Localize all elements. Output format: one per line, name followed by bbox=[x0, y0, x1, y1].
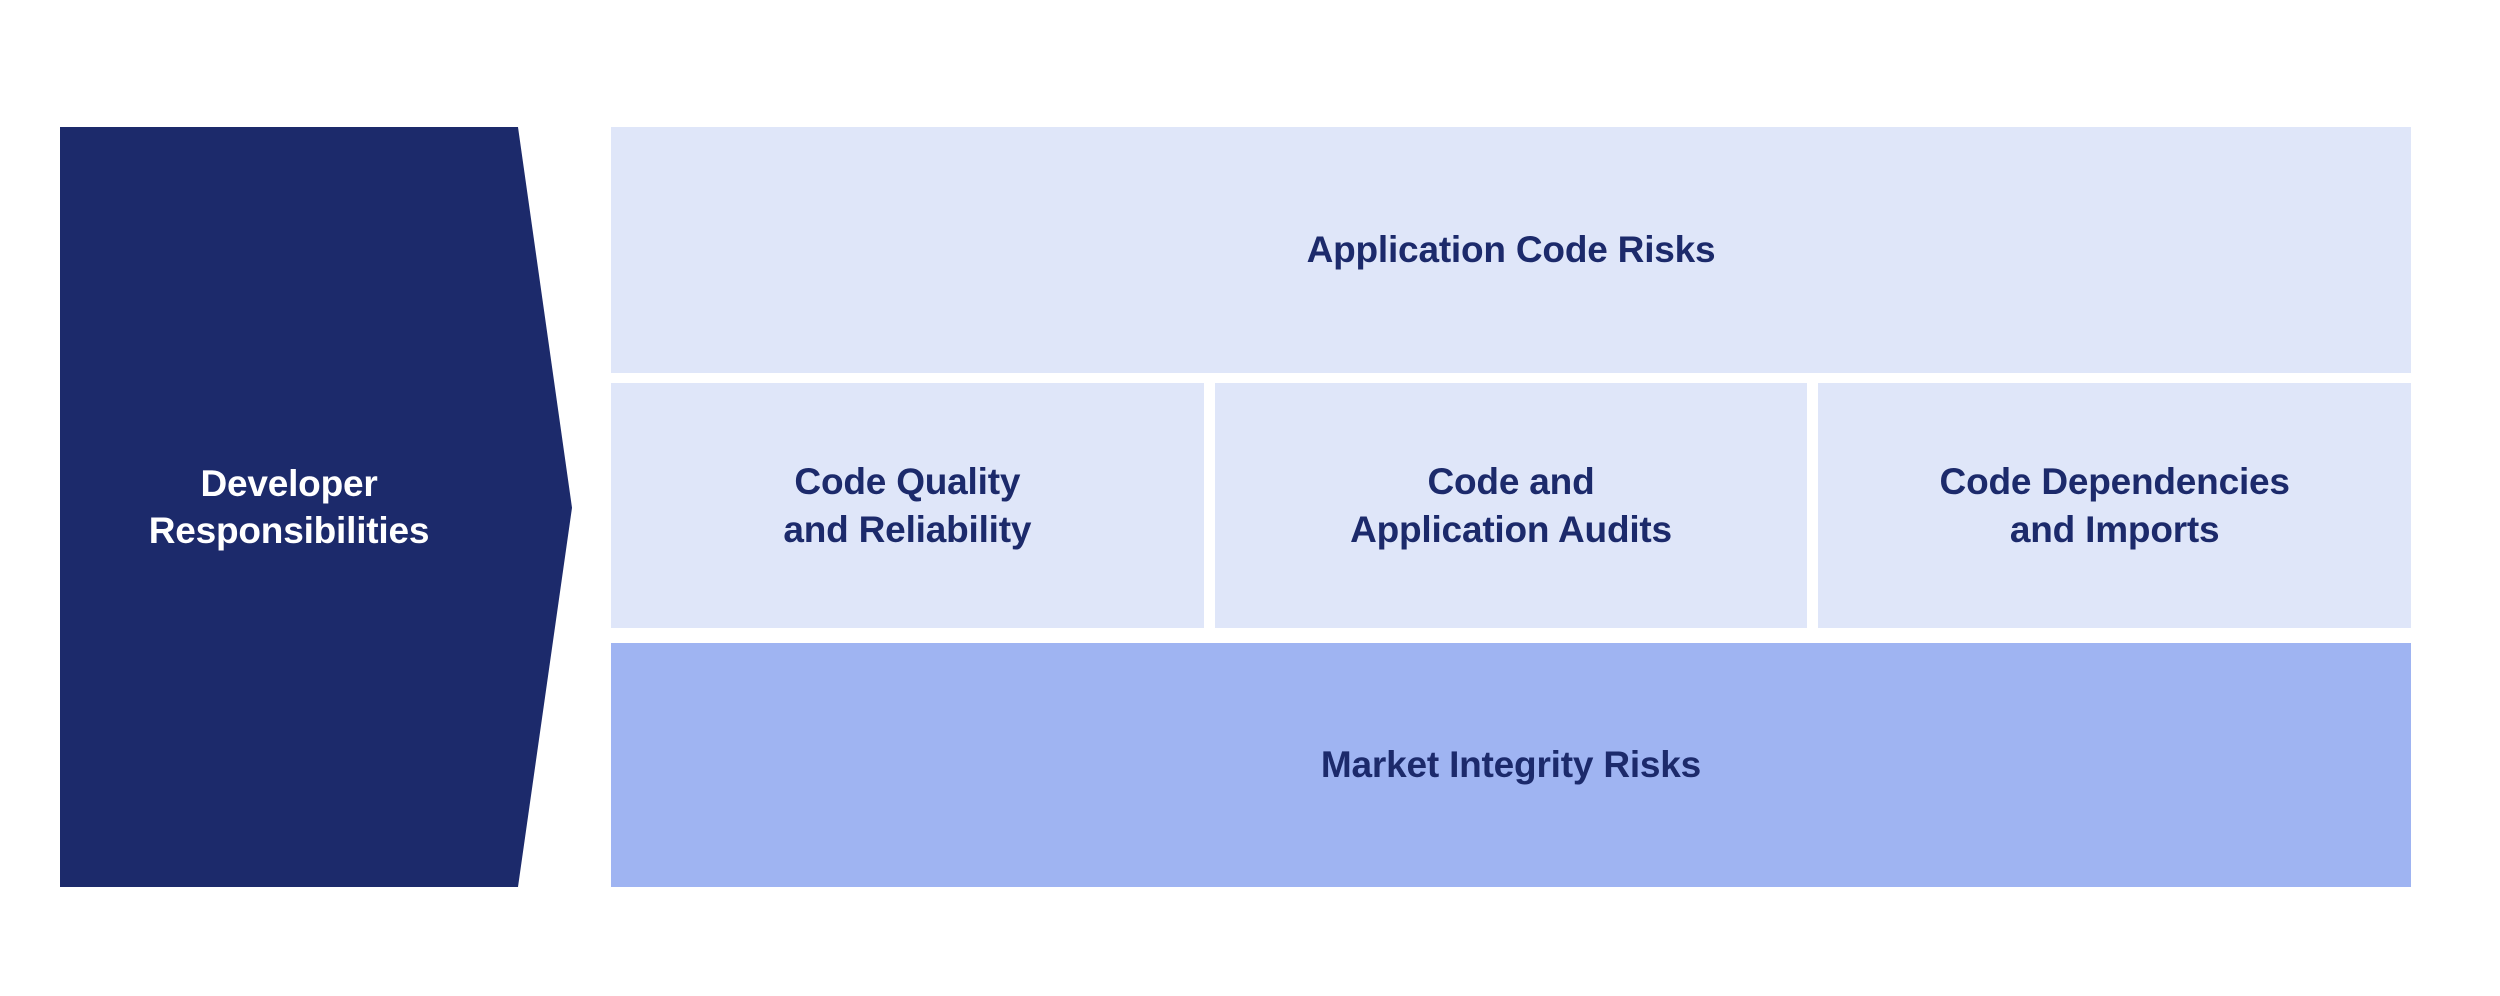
band-market-integrity-risks: Market Integrity Risks bbox=[611, 643, 2411, 887]
developer-responsibilities-pointer: Developer Responsibilities bbox=[60, 127, 572, 887]
band-code-quality-and-reliability: Code Quality and Reliability bbox=[611, 383, 1204, 628]
middle-band-row: Code Quality and Reliability Code and Ap… bbox=[611, 383, 2411, 628]
band-code-and-application-audits-label: Code and Application Audits bbox=[1350, 458, 1672, 553]
band-code-dependencies-and-imports-label: Code Dependencies and Imports bbox=[1940, 458, 2290, 553]
diagram-canvas: Developer Responsibilities Application C… bbox=[0, 0, 2500, 996]
band-application-code-risks-label: Application Code Risks bbox=[1307, 226, 1716, 273]
band-code-quality-and-reliability-label: Code Quality and Reliability bbox=[783, 458, 1031, 553]
band-market-integrity-risks-label: Market Integrity Risks bbox=[1321, 741, 1701, 788]
band-code-dependencies-and-imports: Code Dependencies and Imports bbox=[1818, 383, 2411, 628]
band-code-and-application-audits: Code and Application Audits bbox=[1215, 383, 1808, 628]
developer-responsibilities-label: Developer Responsibilities bbox=[60, 460, 518, 555]
band-application-code-risks: Application Code Risks bbox=[611, 127, 2411, 373]
